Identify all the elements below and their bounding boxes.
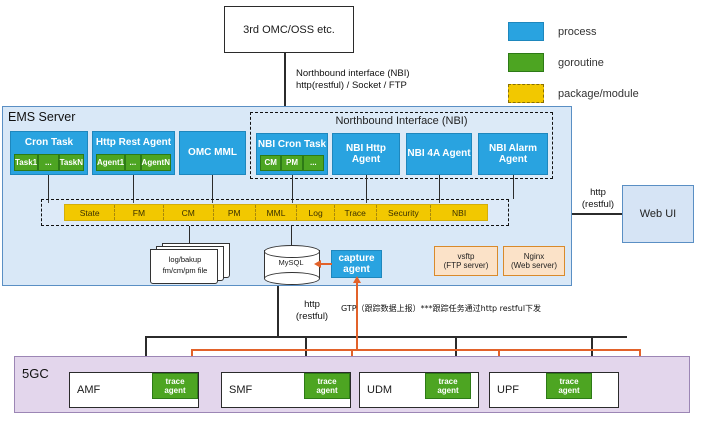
goroutine-agent1[interactable]: Agent1 [96, 154, 125, 171]
process-nbi-alarm-agent-label: NBI Alarm Agent [479, 143, 547, 166]
module-security[interactable]: Security [377, 205, 432, 220]
network-function-upf-label: UPF [497, 384, 519, 396]
legend-item-process: process [508, 22, 698, 41]
service-nginx-line1: Nginx [524, 252, 544, 262]
connector-trace-bus-to-capture-agent [356, 278, 358, 350]
connector-capture-agent-to-mysql [320, 263, 332, 265]
process-nbi-http-agent-label: NBI Http Agent [333, 143, 399, 166]
northbound-interface-group-title: Northbound Interface (NBI) [250, 114, 553, 128]
goroutine-task-ellipsis: ... [38, 154, 58, 171]
process-nbi-http-agent[interactable]: NBI Http Agent [332, 133, 400, 175]
trace-agent-amf-line1: trace [165, 377, 184, 387]
trace-agent-smf[interactable]: trace agent [304, 373, 350, 399]
connector-modules-to-file-stack [189, 226, 190, 244]
module-mml[interactable]: MML [256, 205, 298, 220]
goroutine-taskn[interactable]: TaskN [59, 154, 84, 171]
legend-swatch-goroutine [508, 53, 544, 72]
legend-label-module: package/module [558, 88, 639, 100]
third-party-omc-oss-label: 3rd OMC/OSS etc. [243, 24, 335, 36]
service-nginx: Nginx (Web server) [503, 246, 565, 276]
legend: process goroutine package/module [508, 22, 698, 103]
trace-agent-udm-line2: agent [437, 386, 458, 396]
process-nbi-cron-task[interactable]: NBI Cron Task CM PM ... [256, 133, 328, 175]
process-cron-task-label: Cron Task [11, 132, 87, 154]
trace-agent-amf-line2: agent [164, 386, 185, 396]
nbi-link-label: Northbound interface (NBI) http(restful)… [296, 68, 496, 92]
file-stack-label-line1: log/bakup [152, 254, 218, 265]
web-ui-link-label-line2: (restful) [574, 199, 622, 211]
web-ui-box: Web UI [622, 185, 694, 243]
module-log[interactable]: Log [297, 205, 334, 220]
legend-label-process: process [558, 26, 597, 38]
process-nbi-4a-agent[interactable]: NBI 4A Agent [406, 133, 472, 175]
web-ui-link-label-line1: http [574, 187, 622, 199]
arrow-trace-bus-to-capture-agent [353, 276, 361, 283]
process-cron-task[interactable]: Cron Task Task1 ... TaskN [10, 131, 88, 175]
goroutine-nbi-ellipsis: ... [303, 155, 324, 171]
service-vsftp: vsftp (FTP server) [434, 246, 498, 276]
capture-agent-label-line1: capture [338, 253, 374, 265]
legend-label-goroutine: goroutine [558, 57, 604, 69]
third-party-omc-oss-box: 3rd OMC/OSS etc. [224, 6, 354, 53]
goroutine-agent-ellipsis: ... [125, 154, 140, 171]
legend-swatch-process [508, 22, 544, 41]
mysql-cylinder-bottom [264, 272, 320, 285]
trace-agent-upf[interactable]: trace agent [546, 373, 592, 399]
mysql-cylinder-top [264, 245, 320, 258]
goroutine-nbi-cm[interactable]: CM [260, 155, 281, 171]
connector-modules-to-mysql [291, 226, 292, 246]
trace-agent-upf-line1: trace [559, 377, 578, 387]
fgc-title: 5GC [22, 366, 49, 381]
legend-item-goroutine: goroutine [508, 53, 698, 72]
connector-ems-to-web-ui [572, 213, 622, 215]
legend-swatch-module [508, 84, 544, 103]
arrow-capture-agent-to-mysql [314, 260, 321, 268]
service-vsftp-line2: (FTP server) [444, 261, 489, 271]
trace-agent-amf[interactable]: trace agent [152, 373, 198, 399]
southbound-http-label-line1: http [286, 299, 338, 311]
service-vsftp-line1: vsftp [458, 252, 475, 262]
connector-ems-to-southbound-bus [277, 286, 279, 336]
log-backup-file-stack: log/bakup fm/cm/pm file [150, 243, 228, 283]
trace-bus-horizontal [191, 349, 640, 351]
process-omc-mml[interactable]: OMC MML [179, 131, 246, 175]
process-nbi-cron-task-label: NBI Cron Task [257, 134, 327, 155]
module-trace[interactable]: Trace [335, 205, 377, 220]
trace-agent-smf-line1: trace [317, 377, 336, 387]
mysql-label: MySQL [264, 258, 318, 267]
southbound-bus-horizontal [145, 336, 627, 338]
capture-agent-label-line2: agent [343, 264, 370, 276]
module-state[interactable]: State [65, 205, 115, 220]
module-cm[interactable]: CM [164, 205, 214, 220]
trace-agent-udm[interactable]: trace agent [425, 373, 471, 399]
goroutine-agentn[interactable]: AgentN [141, 154, 171, 171]
module-fm[interactable]: FM [115, 205, 163, 220]
module-bar: State FM CM PM MML Log Trace Security NB… [64, 204, 488, 221]
trace-agent-smf-line2: agent [316, 386, 337, 396]
network-function-udm-label: UDM [367, 384, 392, 396]
nbi-link-label-line2: http(restful) / Socket / FTP [296, 80, 496, 92]
southbound-http-label: http (restful) [286, 299, 338, 323]
legend-item-module: package/module [508, 84, 698, 103]
file-stack-label-line2: fm/cm/pm file [152, 265, 218, 276]
module-nbi[interactable]: NBI [431, 205, 487, 220]
trace-agent-upf-line2: agent [558, 386, 579, 396]
mysql-database: MySQL [264, 245, 318, 283]
southbound-http-label-line2: (restful) [286, 311, 338, 323]
process-omc-mml-label: OMC MML [188, 147, 237, 159]
file-stack-label: log/bakup fm/cm/pm file [152, 254, 218, 276]
nbi-link-label-line1: Northbound interface (NBI) [296, 68, 496, 80]
process-nbi-4a-agent-label: NBI 4A Agent [407, 148, 470, 160]
service-nginx-line2: (Web server) [511, 261, 557, 271]
process-http-rest-agent-label: Http Rest Agent [93, 132, 174, 154]
connector-oss-to-ems [284, 53, 286, 106]
process-http-rest-agent[interactable]: Http Rest Agent Agent1 ... AgentN [92, 131, 175, 175]
goroutine-task1[interactable]: Task1 [14, 154, 38, 171]
gtp-annotation: GTP（跟踪数据上报）***跟踪任务通过http restful下发 [341, 303, 671, 314]
process-capture-agent[interactable]: capture agent [331, 250, 382, 278]
web-ui-link-label: http (restful) [574, 187, 622, 211]
trace-agent-udm-line1: trace [438, 377, 457, 387]
connector-nbi-alarm-agent-to-modules [513, 175, 514, 199]
module-pm[interactable]: PM [214, 205, 256, 220]
network-function-smf-label: SMF [229, 384, 252, 396]
web-ui-label: Web UI [640, 208, 676, 220]
network-function-amf-label: AMF [77, 384, 100, 396]
ems-server-title: EMS Server [8, 110, 75, 124]
process-nbi-alarm-agent[interactable]: NBI Alarm Agent [478, 133, 548, 175]
goroutine-nbi-pm[interactable]: PM [281, 155, 302, 171]
